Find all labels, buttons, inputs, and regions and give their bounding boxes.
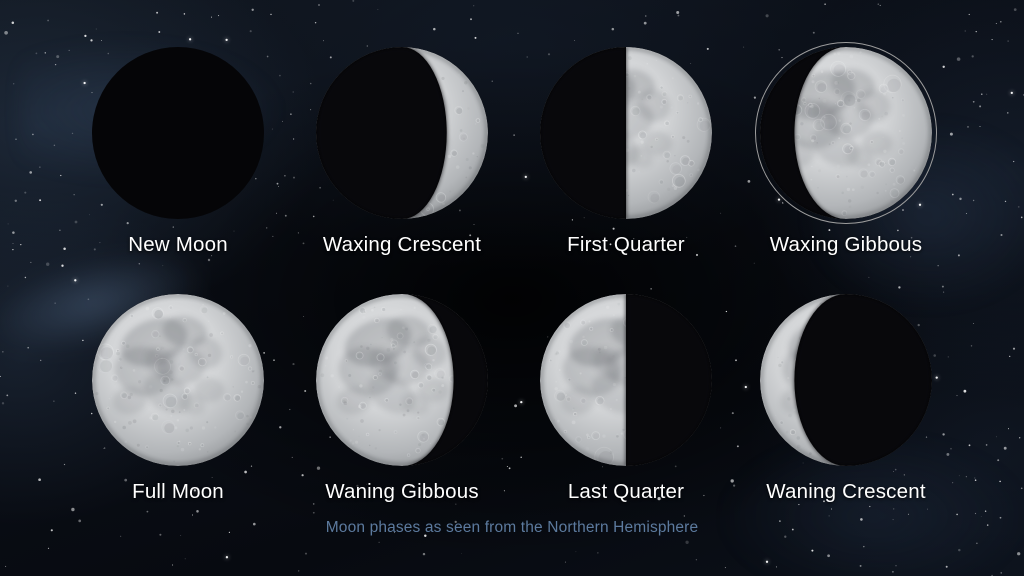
- moon-full-icon: [92, 294, 264, 466]
- moon-new-icon: [92, 47, 264, 219]
- moon-disc[interactable]: [718, 280, 974, 480]
- phase-cell-waxing-crescent[interactable]: Waxing Crescent: [274, 33, 530, 257]
- moon-disc[interactable]: [498, 280, 754, 480]
- phase-label: Full Moon: [50, 480, 306, 504]
- phase-cell-new-moon[interactable]: New Moon: [50, 33, 306, 257]
- moon-shadow: [316, 47, 447, 219]
- moon-disc[interactable]: [50, 280, 306, 480]
- moon-waxing-gibbous-icon: [760, 47, 932, 219]
- caption: Moon phases as seen from the Northern He…: [0, 519, 1024, 537]
- moon-first-quarter-icon: [540, 47, 712, 219]
- moon-phases-diagram: New MoonWaxing CrescentFirst QuarterWaxi…: [0, 0, 1024, 576]
- phase-grid: New MoonWaxing CrescentFirst QuarterWaxi…: [0, 0, 1024, 576]
- moon-waxing-crescent-icon: [316, 47, 488, 219]
- moon-disc[interactable]: [50, 33, 306, 233]
- moon-disc[interactable]: [718, 33, 974, 233]
- moon-disc[interactable]: [498, 33, 754, 233]
- phase-cell-waxing-gibbous[interactable]: Waxing Gibbous: [718, 33, 974, 257]
- moon-disc[interactable]: [274, 280, 530, 480]
- moon-shadow: [540, 47, 626, 219]
- phase-label: Waxing Gibbous: [718, 233, 974, 257]
- phase-cell-full-moon[interactable]: Full Moon: [50, 280, 306, 504]
- phase-label: Waxing Crescent: [274, 233, 530, 257]
- phase-label: Waning Gibbous: [274, 480, 530, 504]
- phase-label: New Moon: [50, 233, 306, 257]
- phase-label: Last Quarter: [498, 480, 754, 504]
- moon-shadow: [794, 294, 932, 466]
- phase-label: First Quarter: [498, 233, 754, 257]
- phase-cell-waning-crescent[interactable]: Waning Crescent: [718, 280, 974, 504]
- moon-last-quarter-icon: [540, 294, 712, 466]
- phase-cell-waning-gibbous[interactable]: Waning Gibbous: [274, 280, 530, 504]
- phase-label: Waning Crescent: [718, 480, 974, 504]
- moon-disc[interactable]: [274, 33, 530, 233]
- moon-waning-crescent-icon: [760, 294, 932, 466]
- moon-shadow: [626, 294, 712, 466]
- moon-waning-gibbous-icon: [316, 294, 488, 466]
- phase-cell-last-quarter[interactable]: Last Quarter: [498, 280, 754, 504]
- phase-cell-first-quarter[interactable]: First Quarter: [498, 33, 754, 257]
